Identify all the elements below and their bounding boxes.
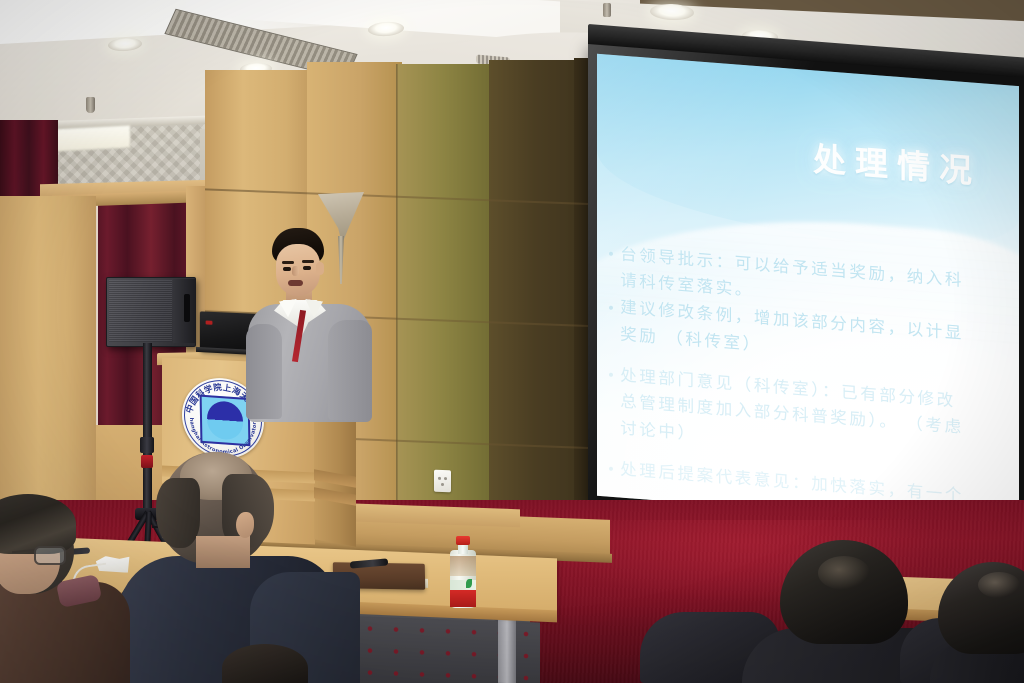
presenter [252,228,372,418]
slide-line-text: 讨论中） [620,418,696,443]
conference-room-photo: 处理情况 台领导批示：可以给予适当奖励，纳入科 请科传室落实。 建议修改条例，增… [0,0,1024,683]
projection-screen-frame: 处理情况 台领导批示：可以给予适当奖励，纳入科 请科传室落实。 建议修改条例，增… [588,44,1024,538]
audience-member-5-hair-highlight [978,572,1020,598]
bullet-dot-icon [609,305,613,309]
water-bottle-label-upper [450,556,476,576]
water-bottle-label-lower [450,590,476,607]
projection-screen: 处理情况 台领导批示：可以给予适当奖励，纳入科 请科传室落实。 建议修改条例，增… [588,30,1024,569]
speaker-stand-height-knob[interactable] [140,437,154,453]
presenter-nose [292,266,299,276]
audience-member-4-hair-highlight [818,556,870,590]
sprinkler-head-icon-2 [603,3,611,17]
presenter-ear [316,262,324,275]
wood-wall-panel-left [0,196,96,546]
water-bottle-label-middle [450,580,476,590]
wall-power-outlet [434,470,451,493]
presenter-eye-left [283,267,291,271]
laptop-logo-icon [206,320,213,324]
wall-panel-seam-vert [396,64,398,544]
audience-member-2-neck [196,536,250,568]
projection-screen-surface: 处理情况 台领导批示：可以给予适当奖励，纳入科 请科传室落实。 建议修改条例，增… [597,54,1019,528]
presenter-mouth [288,280,303,286]
presenter-brow-left [282,261,294,264]
presenter-arm-left [246,324,282,419]
wood-wall-column-d [489,60,581,540]
slide-body-text: 台领导批示：可以给予适当奖励，纳入科 请科传室落实。 建议修改条例，增加该部分内… [620,241,1019,515]
bullet-dot-icon [609,373,613,377]
loudspeaker-port [184,294,190,322]
bullet-dot-icon [609,467,613,471]
water-bottle[interactable] [450,536,476,608]
eyeglasses-icon [34,546,66,565]
sprinkler-head-icon [86,97,95,113]
loudspeaker-grille [109,280,172,342]
leaf-icon [466,579,472,588]
speaker-stand-pole [143,343,152,515]
water-bottle-cap [456,536,470,545]
presenter-arm-right [328,320,372,420]
loudspeaker [106,277,196,347]
presenter-brow-right [302,260,314,263]
audience-member-2-hair-side [156,478,200,548]
audience-member-2-ear [236,512,254,538]
presenter-eye-right [303,266,311,270]
speaker-stand-lock-knob[interactable] [141,455,153,468]
